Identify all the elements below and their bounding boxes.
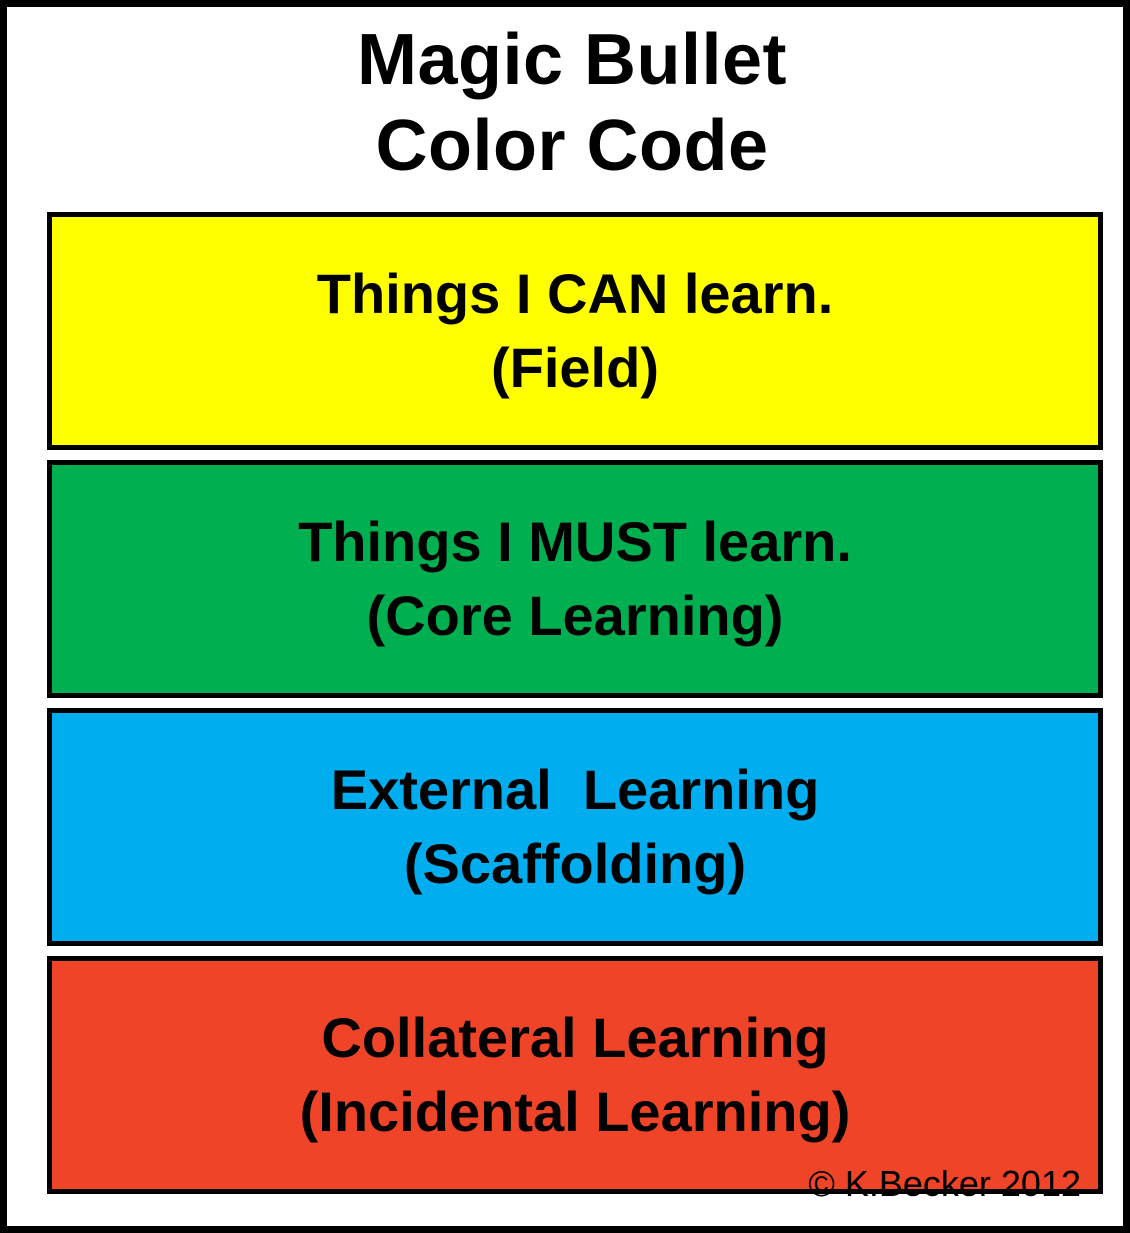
legend-band-scaffolding-sublabel: (Scaffolding) <box>404 827 746 901</box>
copyright-notice: © K.Becker 2012 <box>808 1164 1081 1204</box>
legend-band-incidental-learning-sublabel: (Incidental Learning) <box>300 1075 851 1149</box>
legend-band-scaffolding: External Learning (Scaffolding) <box>47 708 1103 946</box>
legend-band-core-learning-label: Things I MUST learn. <box>298 505 852 579</box>
page-title: Magic Bullet Color Code <box>7 17 1130 189</box>
magic-bullet-color-code-poster: Magic Bullet Color Code Things I CAN lea… <box>0 0 1130 1233</box>
color-code-legend: Things I CAN learn. (Field) Things I MUS… <box>47 212 1103 1194</box>
legend-band-scaffolding-label: External Learning <box>331 753 820 827</box>
page-title-line-1: Magic Bullet <box>7 17 1130 103</box>
legend-band-core-learning: Things I MUST learn. (Core Learning) <box>47 460 1103 698</box>
legend-band-core-learning-sublabel: (Core Learning) <box>367 579 784 653</box>
page-title-line-2: Color Code <box>7 103 1130 189</box>
legend-band-incidental-learning-label: Collateral Learning <box>321 1001 828 1075</box>
legend-band-field-sublabel: (Field) <box>491 331 659 405</box>
legend-band-field-label: Things I CAN learn. <box>317 257 834 331</box>
legend-band-field: Things I CAN learn. (Field) <box>47 212 1103 450</box>
legend-band-incidental-learning: Collateral Learning (Incidental Learning… <box>47 956 1103 1194</box>
